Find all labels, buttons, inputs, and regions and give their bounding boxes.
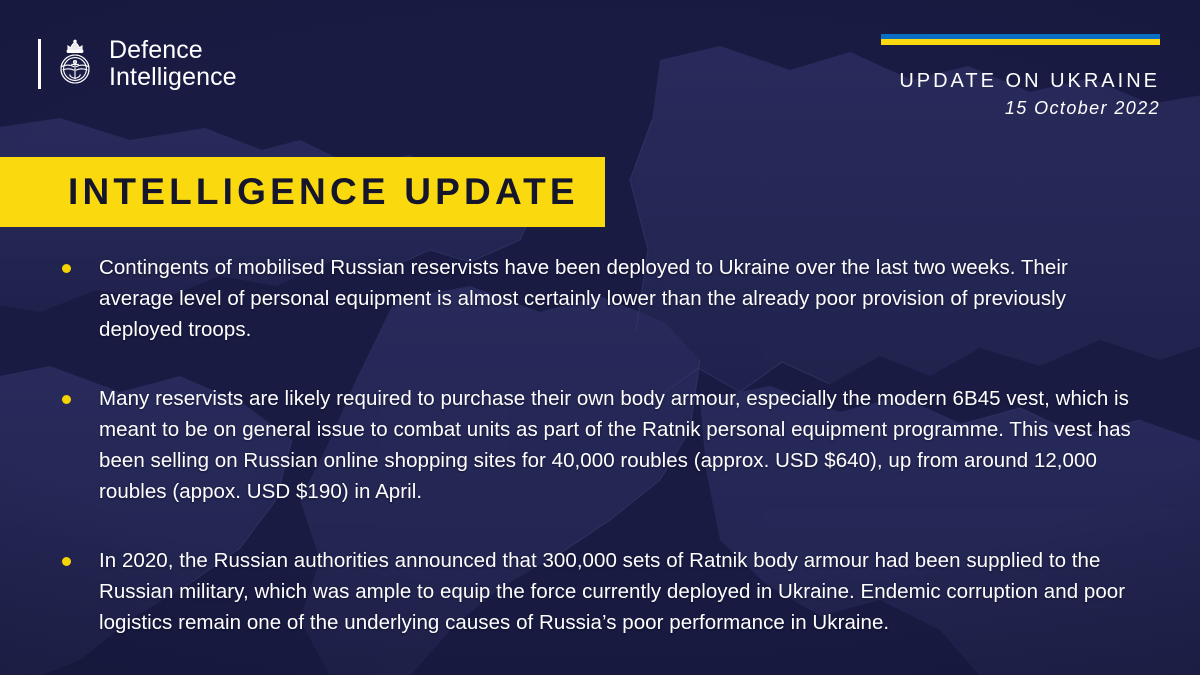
mod-defence-intelligence-crest-icon <box>54 39 96 89</box>
bullet-dot-icon <box>62 395 71 404</box>
update-date: 15 October 2022 <box>881 96 1160 120</box>
intelligence-update-banner: INTELLIGENCE UPDATE <box>0 157 605 227</box>
brand-name: Defence Intelligence <box>109 37 237 91</box>
brand-name-line2: Intelligence <box>109 64 237 91</box>
list-item: Contingents of mobilised Russian reservi… <box>62 252 1140 345</box>
brand-divider-rule <box>38 39 41 89</box>
list-item: Many reservists are likely required to p… <box>62 383 1140 507</box>
bullet-text: Contingents of mobilised Russian reservi… <box>99 252 1140 345</box>
list-item: In 2020, the Russian authorities announc… <box>62 545 1140 638</box>
brand-name-line1: Defence <box>109 37 237 64</box>
poster-header: Defence Intelligence UPDATE ON UKRAINE 1… <box>0 0 1200 150</box>
header-right-group: UPDATE ON UKRAINE 15 October 2022 <box>881 34 1160 120</box>
bullet-text: In 2020, the Russian authorities announc… <box>99 545 1140 638</box>
update-title: UPDATE ON UKRAINE <box>881 69 1160 93</box>
flag-yellow-stripe <box>881 39 1160 45</box>
bullet-text: Many reservists are likely required to p… <box>99 383 1140 507</box>
bullet-dot-icon <box>62 264 71 273</box>
bullet-dot-icon <box>62 557 71 566</box>
ukraine-flag-bar-icon <box>881 34 1160 45</box>
intelligence-update-poster: Defence Intelligence UPDATE ON UKRAINE 1… <box>0 0 1200 675</box>
bullet-list: Contingents of mobilised Russian reservi… <box>62 252 1140 638</box>
defence-intelligence-branding: Defence Intelligence <box>38 37 237 91</box>
banner-label: INTELLIGENCE UPDATE <box>68 172 579 212</box>
